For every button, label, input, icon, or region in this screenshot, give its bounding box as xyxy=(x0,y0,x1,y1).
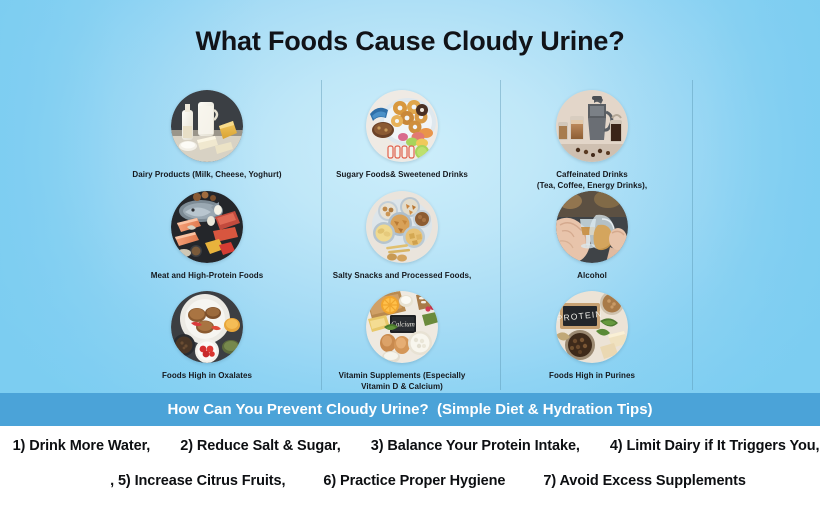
caption-line: Foods High in Oxalates xyxy=(112,371,302,382)
caption-line: Salty Snacks and Processed Foods, xyxy=(307,271,497,282)
tips-row-1: 1) Drink More Water, 2) Reduce Salt & Su… xyxy=(0,438,820,454)
card-caption: Dairy Products (Milk, Cheese, Yoghurt) xyxy=(112,170,302,181)
meat-protein-photo xyxy=(171,191,243,263)
card-caption: Foods High in Purines xyxy=(497,371,687,382)
card-caption: Foods High in Oxalates xyxy=(112,371,302,382)
food-card[interactable]: Dairy Products (Milk, Cheese, Yoghurt) xyxy=(112,90,302,181)
food-card[interactable]: Alcohol xyxy=(497,191,687,282)
sugary-foods-photo xyxy=(366,90,438,162)
card-caption: Meat and High-Protein Foods xyxy=(112,271,302,282)
card-caption: Salty Snacks and Processed Foods, xyxy=(307,271,497,282)
food-card[interactable]: Calcium xyxy=(307,291,497,393)
caption-line: Caffeinated Drinks xyxy=(497,170,687,181)
tip-item: 6) Practice Proper Hygiene xyxy=(323,473,505,489)
tip-item: 2) Reduce Salt & Sugar, xyxy=(180,438,340,454)
food-card[interactable]: Salty Snacks and Processed Foods, xyxy=(307,191,497,282)
vitamin-supplements-photo: Calcium xyxy=(366,291,438,363)
food-card[interactable]: Caffeinated Drinks (Tea, Coffee, Energy … xyxy=(497,90,687,192)
infographic-root: What Foods Cause Cloudy Urine? xyxy=(0,0,820,530)
tip-item: 4) Limit Dairy if It Triggers You, xyxy=(610,438,820,454)
prevention-banner: How Can You Prevent Cloudy Urine? (Simpl… xyxy=(0,393,820,426)
caption-line: (Tea, Coffee, Energy Drinks), xyxy=(497,181,687,192)
alcohol-photo xyxy=(556,191,628,263)
caption-line: Meat and High-Protein Foods xyxy=(112,271,302,282)
purine-foods-photo: PROTEIN xyxy=(556,291,628,363)
food-card[interactable]: Sugary Foods& Sweetened Drinks xyxy=(307,90,497,181)
card-caption: Vitamin Supplements (Especially Vitamin … xyxy=(307,371,497,393)
salty-snacks-photo xyxy=(366,191,438,263)
food-card[interactable]: Foods High in Oxalates xyxy=(112,291,302,382)
food-card[interactable]: PROTEIN xyxy=(497,291,687,382)
tips-row-2: , 5) Increase Citrus Fruits, 6) Practice… xyxy=(0,473,820,489)
prevention-tips: 1) Drink More Water, 2) Reduce Salt & Su… xyxy=(0,426,820,530)
caption-line: Sugary Foods& Sweetened Drinks xyxy=(307,170,497,181)
card-caption: Caffeinated Drinks (Tea, Coffee, Energy … xyxy=(497,170,687,192)
card-caption: Alcohol xyxy=(497,271,687,282)
banner-title: How Can You Prevent Cloudy Urine? (Simpl… xyxy=(167,401,652,418)
oxalate-foods-photo xyxy=(171,291,243,363)
caption-line: Foods High in Purines xyxy=(497,371,687,382)
caption-line: Alcohol xyxy=(497,271,687,282)
caption-line: Vitamin D & Calcium) xyxy=(307,382,497,393)
tip-item: 7) Avoid Excess Supplements xyxy=(543,473,746,489)
tip-item: , 5) Increase Citrus Fruits, xyxy=(110,473,285,489)
tip-item: 1) Drink More Water, xyxy=(13,438,151,454)
food-card[interactable]: Meat and High-Protein Foods xyxy=(112,191,302,282)
dairy-products-photo xyxy=(171,90,243,162)
card-caption: Sugary Foods& Sweetened Drinks xyxy=(307,170,497,181)
tip-item: 3) Balance Your Protein Intake, xyxy=(371,438,580,454)
page-title: What Foods Cause Cloudy Urine? xyxy=(0,26,820,57)
caption-line: Vitamin Supplements (Especially xyxy=(307,371,497,382)
food-category-grid: Dairy Products (Milk, Cheese, Yoghurt) xyxy=(0,90,820,390)
caffeinated-drinks-photo xyxy=(556,90,628,162)
caption-line: Dairy Products (Milk, Cheese, Yoghurt) xyxy=(112,170,302,181)
